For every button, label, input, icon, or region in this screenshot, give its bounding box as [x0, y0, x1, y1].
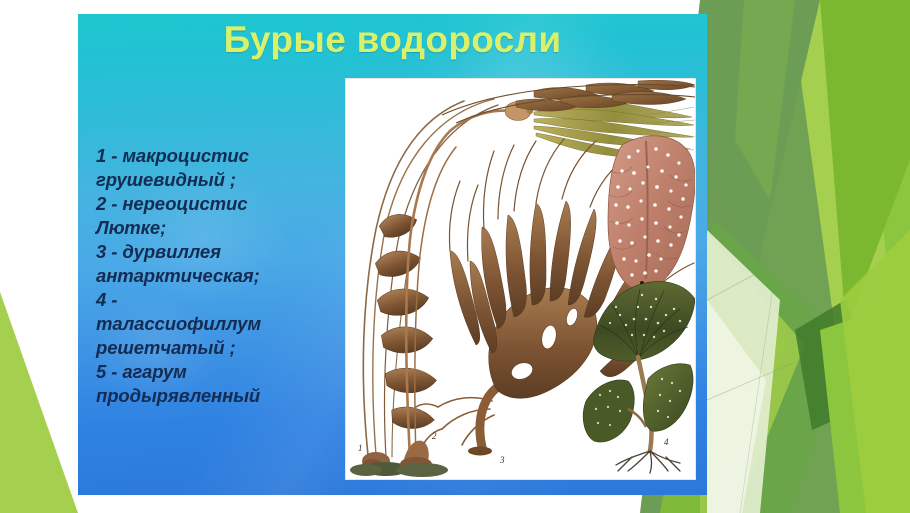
facet-shape-14 — [735, 0, 795, 200]
page-title: Бурые водоросли — [78, 20, 707, 61]
presentation-slide: Бурые водоросли 1 - макроцистис грушевид… — [0, 0, 910, 513]
legend-line: грушевидный ; — [96, 168, 328, 192]
facet-shape-2 — [735, 0, 910, 513]
facet-hairline-1 — [707, 250, 800, 300]
facet-shape-13 — [840, 230, 910, 513]
legend-line: 4 - — [96, 288, 328, 312]
facet-shape-9 — [707, 230, 780, 513]
facet-shape-12 — [820, 300, 910, 513]
facet-hairline-3 — [740, 240, 780, 513]
algae-illustration: 5 — [345, 78, 696, 480]
figure-number-4: 4 — [664, 437, 669, 447]
species-legend: 1 - макроцистис грушевидный ; 2 - нереоц… — [96, 144, 328, 409]
facet-shape-5 — [700, 0, 860, 513]
legend-line: решетчатый ; — [96, 336, 328, 360]
facet-shape-10 — [707, 300, 766, 513]
figure-number-3: 3 — [499, 455, 505, 465]
legend-line: продырявленный — [96, 384, 328, 408]
legend-line: антарктическая; — [96, 264, 328, 288]
facet-shape-8 — [700, 226, 805, 513]
facet-shape-6 — [700, 220, 848, 513]
facet-hairline-2 — [707, 360, 800, 400]
facet-shape-11 — [795, 300, 880, 430]
legend-line: 2 - нереоцистис — [96, 192, 328, 216]
facet-shape-1 — [735, 0, 910, 513]
figure-number-1: 1 — [358, 443, 363, 453]
legend-line: 5 - агарум — [96, 360, 328, 384]
legend-line: талассиофиллум — [96, 312, 328, 336]
legend-line: Лютке; — [96, 216, 328, 240]
legend-line: 1 - макроцистис — [96, 144, 328, 168]
legend-line: 3 - дурвиллея — [96, 240, 328, 264]
facet-shape-left — [0, 292, 78, 513]
facet-shape-4 — [820, 0, 910, 330]
figure-number-2: 2 — [432, 431, 437, 441]
